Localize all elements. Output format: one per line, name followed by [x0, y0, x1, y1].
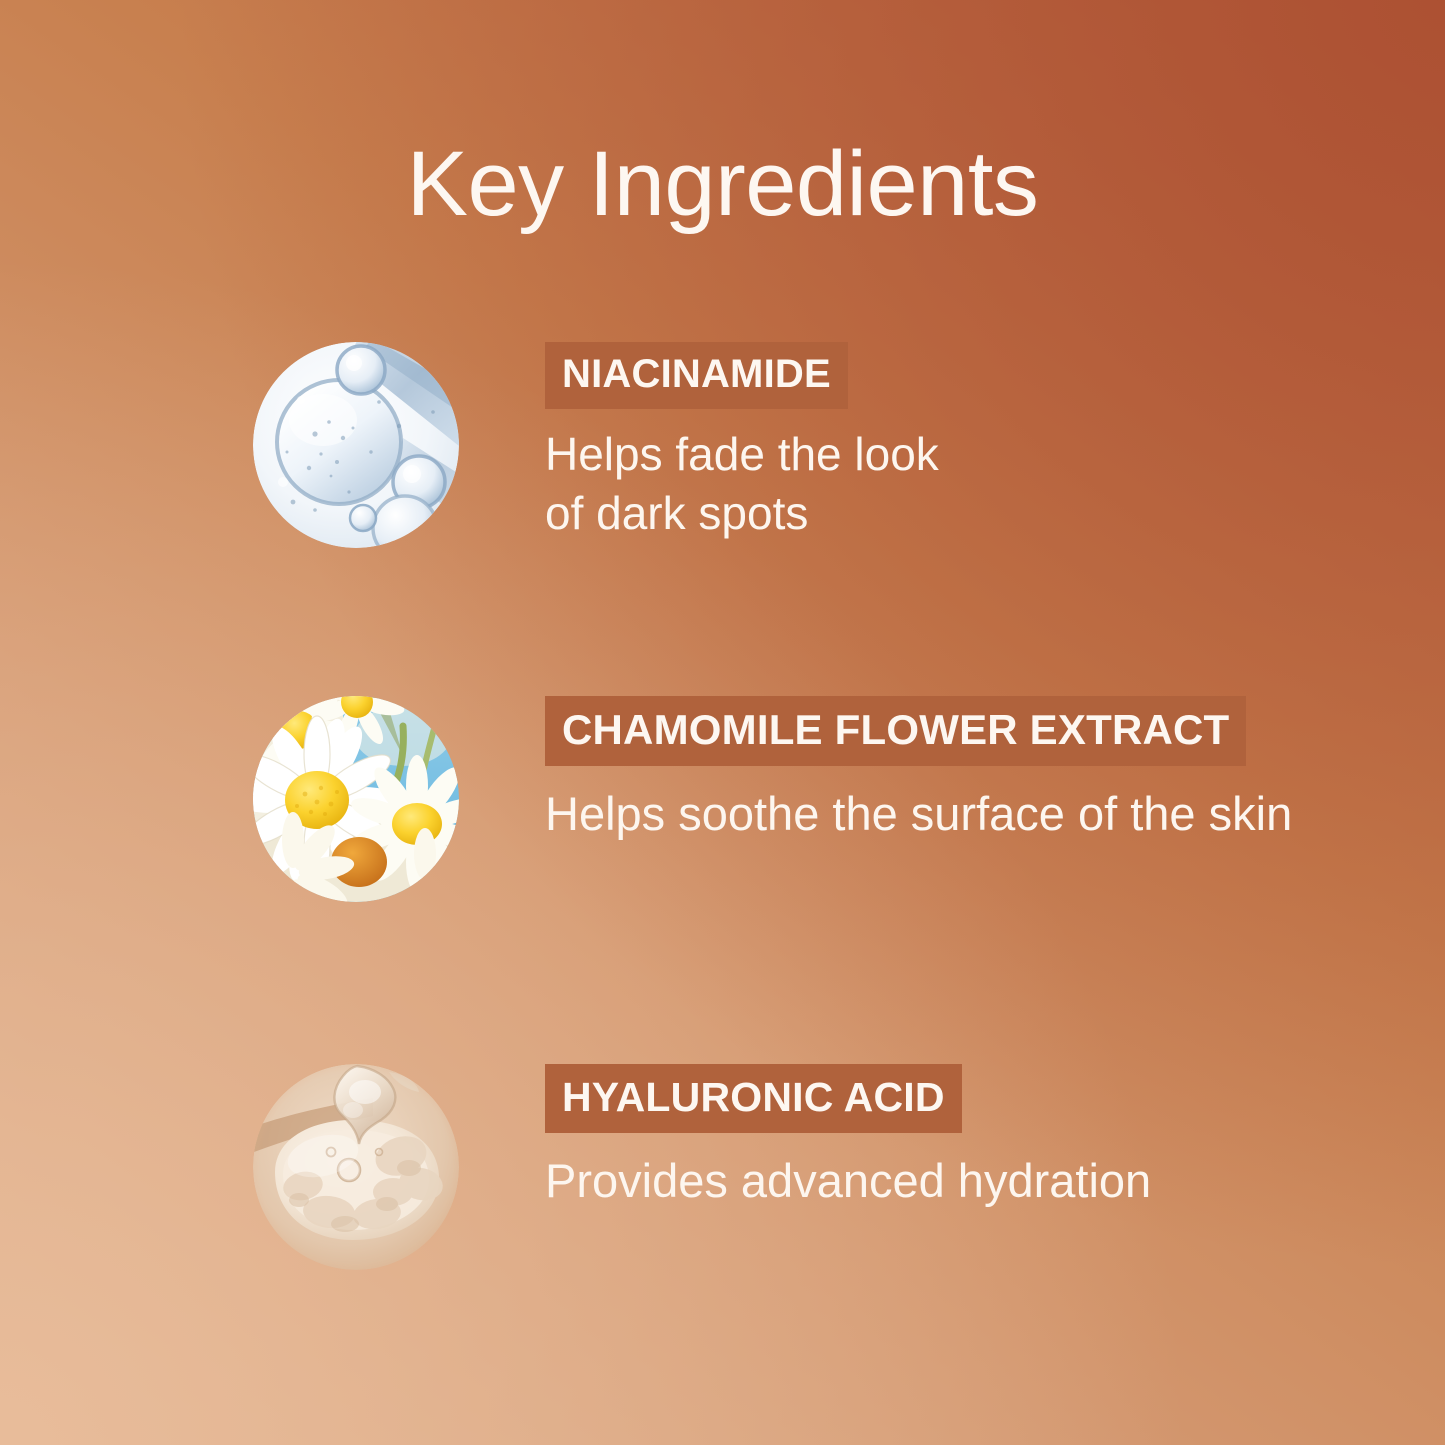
page-title: Key Ingredients: [0, 136, 1445, 233]
ingredient-text-niacinamide: NIACINAMIDE Helps fade the look of dark …: [545, 342, 1405, 543]
ingredient-name-badge: HYALURONIC ACID: [545, 1064, 962, 1133]
ingredient-row-niacinamide: NIACINAMIDE Helps fade the look of dark …: [0, 342, 1445, 552]
ingredient-name-badge: CHAMOMILE FLOWER EXTRACT: [545, 696, 1246, 766]
ingredient-row-chamomile: CHAMOMILE FLOWER EXTRACT Helps soothe th…: [0, 696, 1445, 906]
key-ingredients-infographic: Key Ingredients: [0, 0, 1445, 1445]
ingredient-text-hyaluronic-acid: HYALURONIC ACID Provides advanced hydrat…: [545, 1064, 1405, 1211]
chamomile-flowers-swatch-icon: [253, 696, 459, 902]
hyaluronic-gel-swatch-icon: [253, 1064, 459, 1270]
ingredient-description: Provides advanced hydration: [545, 1151, 1405, 1211]
ingredient-name-badge: NIACINAMIDE: [545, 342, 848, 409]
ingredient-text-chamomile: CHAMOMILE FLOWER EXTRACT Helps soothe th…: [545, 696, 1405, 844]
ingredient-description: Helps fade the look of dark spots: [545, 425, 1405, 543]
ingredient-description: Helps soothe the surface of the skin: [545, 784, 1405, 844]
serum-bubbles-swatch-icon: [253, 342, 459, 548]
ingredient-row-hyaluronic-acid: HYALURONIC ACID Provides advanced hydrat…: [0, 1064, 1445, 1274]
